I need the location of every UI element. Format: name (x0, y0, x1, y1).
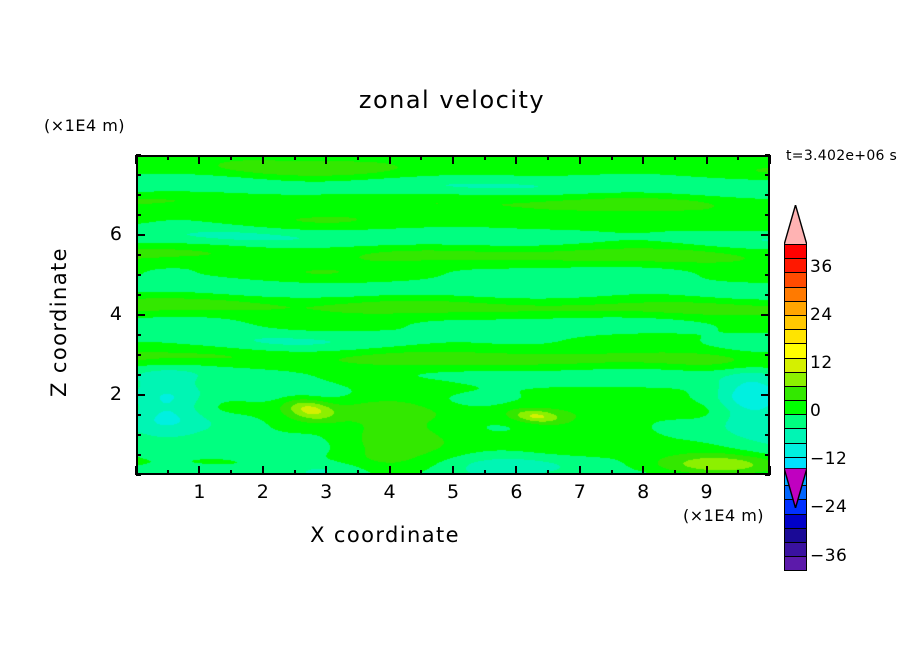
colorbar-band (784, 556, 807, 571)
colorbar-tick-label: 36 (810, 257, 833, 277)
colorbar-under-arrow (784, 468, 807, 508)
colorbar-tick-label: 24 (810, 305, 833, 325)
colorbar-band (784, 301, 807, 316)
x-tick-label: 5 (433, 481, 473, 503)
y-axis-unit-label: (×1E4 m) (44, 116, 125, 135)
figure-canvas: zonal velocity (×1E4 m) (×1E4 m) t=3.402… (0, 0, 904, 654)
page-title: zonal velocity (0, 86, 904, 114)
colorbar-band (784, 329, 807, 344)
colorbar-band (784, 372, 807, 387)
colorbar-band (784, 358, 807, 373)
x-tick-label: 4 (370, 481, 410, 503)
colorbar-tick-label: 0 (810, 401, 821, 421)
colorbar-tick-label: −24 (810, 497, 847, 517)
colorbar-band (784, 400, 807, 415)
colorbar-band (784, 272, 807, 287)
colorbar-over-arrow (784, 205, 807, 245)
colorbar-band (784, 514, 807, 529)
x-tick-label: 2 (243, 481, 283, 503)
x-tick-label: 1 (179, 481, 219, 503)
contour-plot-area (136, 155, 770, 475)
colorbar-band (784, 443, 807, 458)
colorbar-band (784, 287, 807, 302)
colorbar (784, 244, 807, 570)
x-tick-label: 9 (687, 481, 727, 503)
y-axis-title: Z coordinate (47, 202, 71, 442)
colorbar-band (784, 315, 807, 330)
y-tick-label: 4 (96, 303, 122, 325)
colorbar-band (784, 386, 807, 401)
colorbar-band (784, 244, 807, 259)
colorbar-band (784, 528, 807, 543)
colorbar-tick-label: 12 (810, 353, 833, 373)
y-tick-label: 6 (96, 223, 122, 245)
x-tick-label: 7 (560, 481, 600, 503)
x-axis-title: X coordinate (0, 523, 770, 547)
x-tick-label: 8 (623, 481, 663, 503)
x-tick-label: 3 (306, 481, 346, 503)
y-tick-label: 2 (96, 383, 122, 405)
colorbar-tick-label: −12 (810, 449, 847, 469)
velocity-field (138, 157, 768, 473)
colorbar-tick-label: −36 (810, 546, 847, 566)
x-tick-label: 6 (496, 481, 536, 503)
colorbar-band (784, 258, 807, 273)
colorbar-band (784, 428, 807, 443)
time-annotation: t=3.402e+06 s (786, 148, 897, 164)
colorbar-band (784, 343, 807, 358)
colorbar-band (784, 414, 807, 429)
colorbar-band (784, 542, 807, 557)
